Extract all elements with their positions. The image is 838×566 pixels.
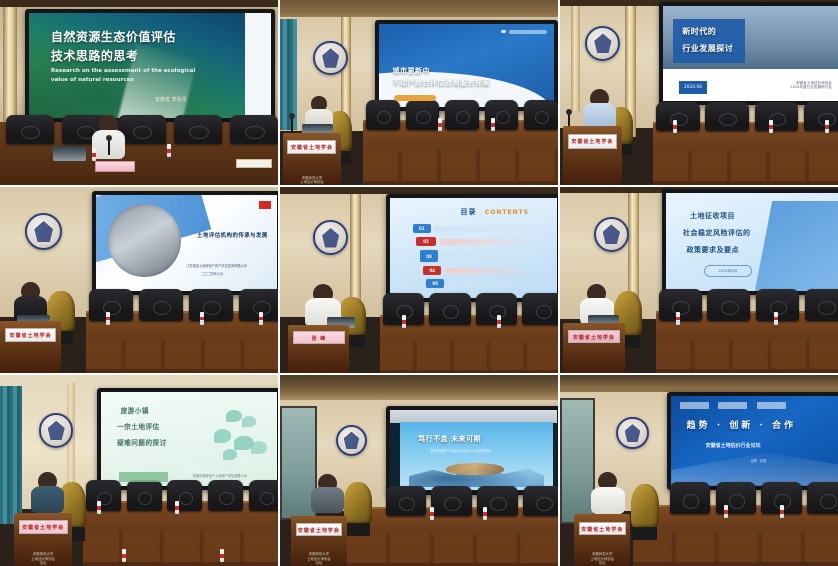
collage-panel-3[interactable]: 新时代的 行业发展探讨 2024.06 安徽省土地估价师协会2024年度行业发展… [560,0,838,185]
chair [716,482,756,514]
chair-row-2 [366,100,558,130]
toc-item-number: 01 [413,224,431,233]
led-screen-9: 趋势 · 创新 · 合作 安徽省土地估价行业论坛 合肥 · 安徽 [667,392,838,489]
slide-logo-row [680,402,787,409]
podium-name-plate: 安徽省土地学会 [287,140,336,153]
led-screen-3: 新时代的 行业发展探讨 2024.06 安徽省土地估价师协会2024年度行业发展… [659,2,838,106]
slide-blue-block [673,19,744,63]
speaker-person-3 [583,89,617,130]
chair [429,293,470,325]
podium-9: 安徽省土地学会 安徽师范大学土地估价师协会论坛 [574,514,630,566]
chair [6,115,54,145]
water-bottle [825,120,829,133]
slide-8: 笃行不怠 未来可期 自然资源资产评估与土地估价行业发展研讨 [390,410,557,492]
chair [659,289,702,321]
slide-app-toolbar [390,410,557,423]
chair [656,102,700,132]
school-emblem-icon [313,220,348,255]
water-bottle [106,312,110,325]
chair [755,102,799,132]
slide-6: 土地征收项目 社会稳定风险评估的 政策要求及要点 2024年6月 [666,193,838,291]
microphone-icon [108,139,110,156]
chair-row-4 [89,289,278,321]
slide-logo-3 [757,402,786,409]
head-table [653,122,838,185]
chair-row-6 [659,289,838,321]
room-scene-7: 旅游小镇 一宗土地评估 疑难问题的探讨 安徽省某房地产土地资产评估有限公司 [0,375,278,566]
name-plate [95,161,136,172]
toc-item-number: 04 [423,266,441,275]
podium-7: 安徽省土地学会 安徽师范大学土地估价师协会论坛 [14,513,72,566]
chair [406,100,440,130]
collage-panel-5[interactable]: 目录 CONTENTS 01 02 03 [280,187,558,373]
water-bottle [438,118,442,131]
name-plate [236,159,271,168]
speaker-person-9 [591,472,625,514]
room-scene-4: 土地评估机构的传承与发展 江苏某某土地房地产资产评估咨询有限公司 二〇二四年六月 [0,187,278,373]
led-screen-7: 旅游小镇 一宗土地评估 疑难问题的探讨 安徽省某房地产土地资产评估有限公司 [97,388,278,489]
slide-title-line1: 趋势 · 创新 · 合作 [687,421,796,432]
chair [174,115,222,145]
chair [386,486,426,517]
water-bottle [200,312,204,325]
chair [127,480,162,511]
water-bottle [774,312,778,325]
toc-item-label [443,252,537,260]
collage-panel-6[interactable]: 土地征收项目 社会稳定风险评估的 政策要求及要点 2024年6月 [560,187,838,373]
water-bottle [676,312,680,325]
slide-title-line2: 不动产综合评估咨询服务探索 [393,79,491,88]
chair [431,486,471,517]
podium-2: 安徽省土地学会 安徽师范大学土地估价师协会 [283,133,341,185]
slide-subtitle-line2: value of natural resources [51,77,134,84]
water-bottle [769,120,773,133]
slide-logo [501,28,547,35]
room-scene-3: 新时代的 行业发展探讨 2024.06 安徽省土地估价师协会2024年度行业发展… [560,0,838,185]
slide-canvas: 笃行不怠 未来可期 自然资源资产评估与土地估价行业发展研讨 [400,422,554,490]
podium-4: 安徽省土地学会 [0,321,61,373]
chair [707,289,750,321]
collage-panel-8[interactable]: 笃行不怠 未来可期 自然资源资产评估与土地估价行业发展研讨 [280,375,558,566]
room-scene-8: 笃行不怠 未来可期 自然资源资产评估与土地估价行业发展研讨 [280,375,558,566]
water-bottle [220,549,224,562]
led-screen-5: 目录 CONTENTS 01 02 03 [386,194,558,302]
school-emblem-icon [39,413,74,448]
slide-subtitle-line2: 二〇二四年六月 [201,272,223,276]
podium-caption: 安徽师范大学土地估价师协会论坛 [574,552,630,566]
screen-edge-light [245,13,272,118]
slide-title-line1: 笃行不怠 未来可期 [418,435,481,444]
speaker-body [31,486,64,512]
collage-panel-1[interactable]: 自然资源生态价值评估 技术思路的思考 Research on the asses… [0,0,278,185]
slide-subtitle-line1: 自然资源资产评估与土地估价行业发展研讨 [430,449,491,453]
slide-affiliation: 安徽省土地估价师协会2024年度行业发展研讨会 [790,81,832,90]
slide-subtitle-line2: 合肥 · 安徽 [750,459,766,463]
water-bottle [97,501,101,514]
speaker-person-7 [31,472,64,512]
water-bottle [259,312,263,325]
chair-row-7 [86,480,278,511]
room-scene-9: 趋势 · 创新 · 合作 安徽省土地估价行业论坛 合肥 · 安徽 [560,375,838,566]
podium-5: 张 峰 [288,325,349,373]
podium-name-plate: 安徽省土地学会 [19,520,68,534]
led-screen-4: 土地评估机构的传承与发展 江苏某某土地房地产资产评估咨询有限公司 二〇二四年六月 [92,191,278,295]
water-bottle [724,505,728,518]
slide-subtitle-line1: 江苏某某土地房地产资产评估咨询有限公司 [186,264,247,268]
slide-title-line1: 旅游小镇 [121,407,149,415]
chair-row-5 [383,293,558,325]
water-bottle [175,501,179,514]
speaker-person-8 [311,474,344,512]
podium-caption: 安徽师范大学土地估价师协会论坛 [291,552,347,566]
led-screen-1: 自然资源生态价值评估 技术思路的思考 Research on the asses… [25,9,275,122]
chair [670,482,710,514]
collage-panel-4[interactable]: 土地评估机构的传承与发展 江苏某某土地房地产资产评估咨询有限公司 二〇二四年六月 [0,187,278,373]
collage-panel-9[interactable]: 趋势 · 创新 · 合作 安徽省土地估价行业论坛 合肥 · 安徽 [560,375,838,566]
window [560,398,595,524]
chair [249,480,278,511]
chair [189,289,233,321]
chair [805,289,838,321]
slide-4: 土地评估机构的传承与发展 江苏某某土地房地产资产评估咨询有限公司 二〇二四年六月 [96,195,277,291]
head-table [83,501,278,566]
podium-3: 安徽省土地学会 [563,126,622,185]
slide-1: 自然资源生态价值评估 技术思路的思考 Research on the asses… [29,13,271,118]
collage-panel-7[interactable]: 旅游小镇 一宗土地评估 疑难问题的探讨 安徽省某房地产土地资产评估有限公司 [0,375,278,566]
toc-item: 04 [423,266,537,275]
slide-cta-badge [394,95,436,101]
room-scene-1: 自然资源生态价值评估 技术思路的思考 Research on the asses… [0,0,278,185]
slide-subtitle-line1: 安徽省某房地产土地资产评估有限公司 [193,474,247,478]
chair [523,486,558,517]
podium-caption: 安徽师范大学土地估价师协会论坛 [14,552,72,566]
chair [208,480,243,511]
slide-title-line1: 土地评估机构的传承与发展 [197,233,268,240]
slide-branch-illustration [196,407,270,472]
head-table [363,120,558,185]
window-curtain [0,386,22,524]
slide-2: 城市更新中 不动产综合评估咨询服务探索 [379,24,554,107]
podium-caption: 安徽师范大学土地估价师协会 [283,176,341,185]
ceiling [280,375,558,402]
school-emblem-icon [313,41,348,76]
chair [86,480,121,511]
chair [139,289,183,321]
water-bottle [430,507,434,520]
toc-item-number: 02 [416,237,435,246]
toc-item-number: 03 [420,250,439,262]
slide-title-line2: 一宗土地评估 [117,423,160,431]
chair [807,482,838,514]
water-bottle [483,507,487,520]
room-scene-5: 目录 CONTENTS 01 02 03 [280,187,558,373]
bronze-bust-statue [631,484,659,528]
toc-item: 02 [416,237,536,246]
toc-item-label [446,268,537,274]
slide-subtitle-line1: 安徽省土地估价行业论坛 [706,443,761,450]
speaker-body [591,487,625,515]
slide-5: 目录 CONTENTS 01 02 03 [390,198,557,298]
chair [705,102,749,132]
water-bottle [167,144,171,157]
laptop-icon [53,146,86,161]
school-emblem-icon [594,217,629,252]
slide-logo-1 [680,402,709,409]
chair [804,102,838,132]
chair [522,293,558,325]
toc-item: 01 [413,224,523,233]
podium-name-plate: 安徽省土地学会 [296,523,343,536]
slide-date-badge: 2024.06 [679,81,708,93]
slide-3: 新时代的 行业发展探讨 2024.06 安徽省土地估价师协会2024年度行业发展… [663,6,838,102]
slide-title-line1: 土地征收项目 [690,212,735,221]
water-bottle [92,148,96,161]
chair-row-1 [6,115,278,145]
toc-item-label [435,226,523,232]
room-scene-6: 土地征收项目 社会稳定风险评估的 政策要求及要点 2024年6月 [560,187,838,373]
toc-item-label [448,281,536,287]
slide-toc-heading: 目录 CONTENTS [456,207,529,217]
speaker-body [311,487,344,512]
chair [366,100,400,130]
podium-8: 安徽省土地学会 安徽师范大学土地估价师协会论坛 [291,516,347,566]
chair [167,480,202,511]
slide-circle-photo [108,204,180,276]
toc-item-number: 05 [426,279,444,288]
slide-date-badge: 2024年6月 [704,265,752,277]
chair [485,100,519,130]
toc-item: 05 [426,279,536,288]
toc-item-label [440,239,536,245]
slide-bird-shape [446,463,504,475]
slide-7: 旅游小镇 一宗土地评估 疑难问题的探讨 安徽省某房地产土地资产评估有限公司 [101,392,276,485]
podium-6: 安徽省土地学会 [563,323,625,373]
water-bottle [497,315,501,328]
chair [230,115,278,145]
toc-item: 03 [420,250,537,262]
chair-row-9 [670,482,838,514]
chair [89,289,133,321]
chair [445,100,479,130]
slide-title-line2: 技术思路的思考 [51,49,139,64]
slide-toc-title: 目录 [460,208,476,216]
podium-name-plate: 安徽省土地学会 [568,134,618,149]
chair-row-3 [656,102,838,132]
slide-logo-mark [259,201,272,209]
water-bottle [673,120,677,133]
led-screen-6: 土地征收项目 社会稳定风险评估的 政策要求及要点 2024年6月 [662,189,838,295]
collage-panel-2[interactable]: 城市更新中 不动产综合评估咨询服务探索 [280,0,558,185]
slide-toc-title-en: CONTENTS [485,209,529,216]
chair-row-8 [386,486,558,517]
water-bottle [122,549,126,562]
slide-title-line3: 政策要求及要点 [687,246,740,255]
water-bottle [402,315,406,328]
led-screen-2: 城市更新中 不动产综合评估咨询服务探索 [375,20,558,111]
slide-title-line2: 社会稳定风险评估的 [683,229,751,238]
podium-name-plate: 安徽省土地学会 [5,328,56,341]
wall-pillar [571,6,579,111]
room-scene-2: 城市更新中 不动产综合评估咨询服务探索 [280,0,558,185]
window-curtain [280,19,297,130]
slide-title-line1: 新时代的 [682,27,716,37]
slide-title-line2: 行业发展探讨 [682,44,733,54]
bronze-bust-statue [344,482,372,524]
slide-byline: 安徽省 李名月 [155,97,187,104]
slide-subtitle-line1: Research on the assessment of the ecolog… [51,68,196,75]
podium-name-plate: 安徽省土地学会 [579,522,626,535]
water-bottle [491,118,495,131]
slide-green-bar [119,472,168,482]
led-screen-8: 笃行不怠 未来可期 自然资源资产评估与土地估价行业发展研讨 [386,406,558,496]
slide-logo-2 [718,402,747,409]
school-emblem-icon [616,417,648,449]
chair [524,100,558,130]
podium-name-plate: 张 峰 [293,331,344,344]
slide-title-line1: 城市更新中 [393,67,431,76]
slide-title-line1: 自然资源生态价值评估 [51,30,176,45]
photo-collage-grid: 自然资源生态价值评估 技术思路的思考 Research on the asses… [0,0,838,562]
slide-9: 趋势 · 创新 · 合作 安徽省土地估价行业论坛 合肥 · 安徽 [671,396,838,485]
podium-name-plate: 安徽省土地学会 [568,330,620,343]
slide-title-line3: 疑难问题的探讨 [117,439,167,447]
water-bottle [780,505,784,518]
